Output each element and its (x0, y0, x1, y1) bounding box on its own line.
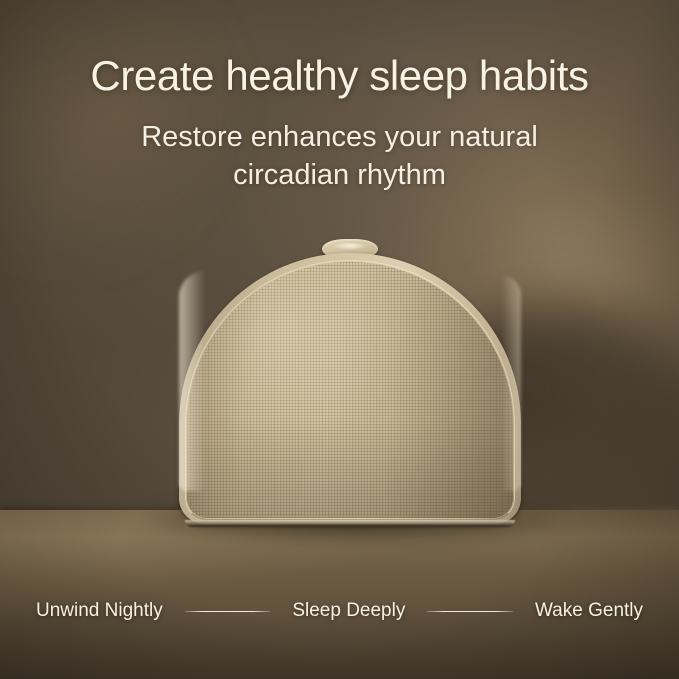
feature-step-row: Unwind Nightly Sleep Deeply Wake Gently (0, 600, 679, 622)
page-subtitle-line-2: circadian rhythm (0, 156, 679, 194)
page-title: Create healthy sleep habits (0, 52, 679, 100)
feature-step-sleep-deeply: Sleep Deeply (292, 600, 405, 622)
page-subtitle-line-1: Restore enhances your natural (0, 118, 679, 156)
product-device (179, 253, 521, 524)
step-divider-rule (185, 611, 271, 612)
device-base-edge (185, 520, 515, 527)
page-subtitle: Restore enhances your natural circadian … (0, 118, 679, 194)
device-rim-left-highlight (179, 271, 205, 491)
product-hero-banner: Create healthy sleep habits Restore enha… (0, 0, 679, 679)
feature-step-wake-gently: Wake Gently (535, 600, 643, 622)
device-top-button-highlight (333, 243, 367, 250)
device-rim-right-highlight (501, 275, 521, 491)
step-divider-rule (427, 611, 513, 612)
feature-step-unwind-nightly: Unwind Nightly (36, 600, 163, 622)
